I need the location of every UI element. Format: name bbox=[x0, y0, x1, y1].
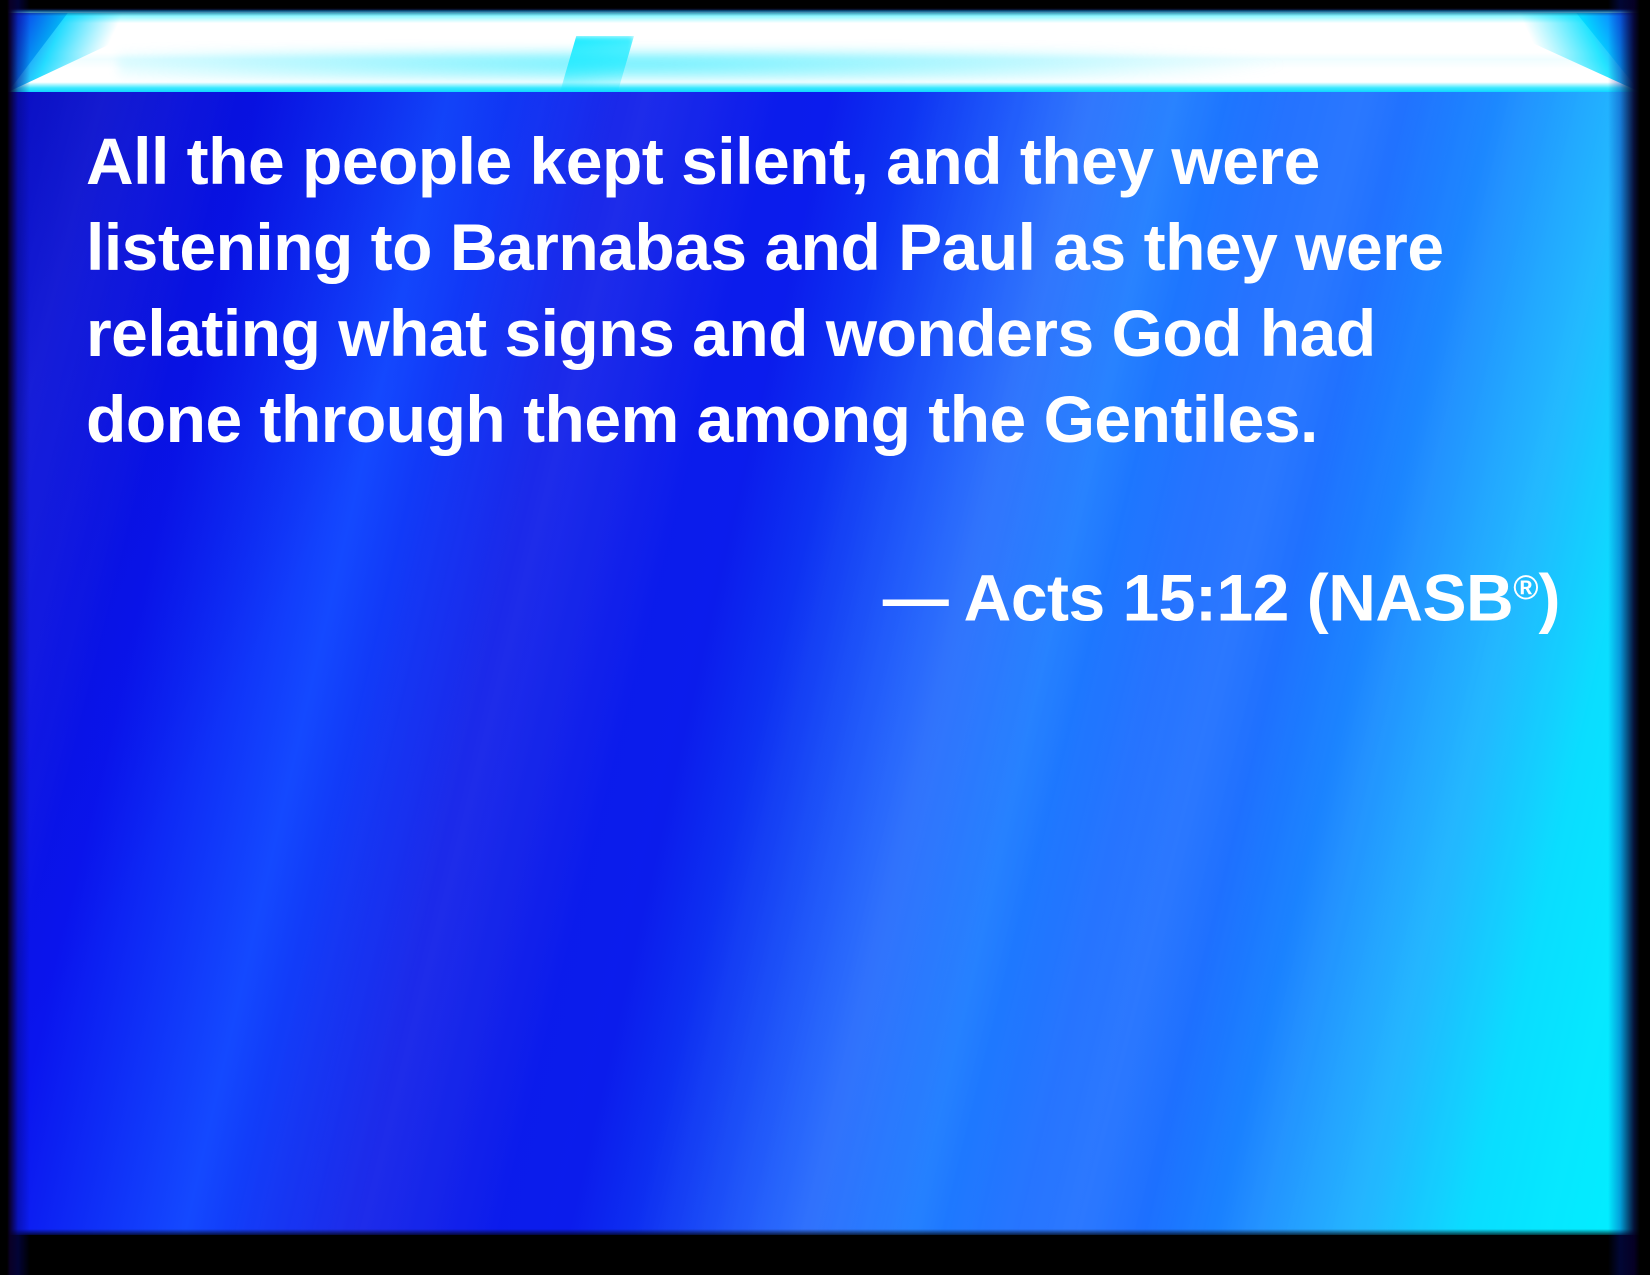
verse-slide: All the people kept silent, and they wer… bbox=[0, 0, 1650, 1275]
frame-border-vignette bbox=[0, 0, 1650, 1275]
